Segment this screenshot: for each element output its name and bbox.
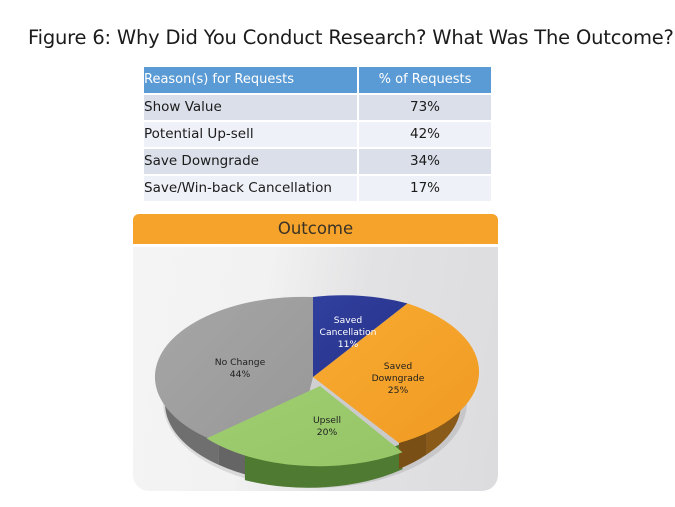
pie-label-line: Downgrade bbox=[372, 373, 425, 384]
pie-chart-svg: Saved Cancellation 11% Saved Downgrade 2… bbox=[133, 247, 498, 491]
pie-label-line: No Change bbox=[215, 357, 266, 368]
table-cell-reason: Save/Win-back Cancellation bbox=[144, 176, 358, 201]
pie-label-value: 25% bbox=[388, 385, 409, 396]
table-row: Save/Win-back Cancellation 17% bbox=[144, 176, 491, 201]
table-header-reason: Reason(s) for Requests bbox=[144, 67, 358, 93]
table-header-percent: % of Requests bbox=[358, 67, 491, 93]
table-cell-percent: 42% bbox=[358, 122, 491, 147]
table-cell-reason: Show Value bbox=[144, 95, 358, 120]
table-cell-percent: 17% bbox=[358, 176, 491, 201]
table-row: Save Downgrade 34% bbox=[144, 149, 491, 174]
pie-label-value: 44% bbox=[230, 369, 251, 380]
table-cell-reason: Save Downgrade bbox=[144, 149, 358, 174]
pie-label-line: Saved bbox=[334, 315, 362, 326]
table-cell-reason: Potential Up-sell bbox=[144, 122, 358, 147]
outcome-chart-panel: Outcome bbox=[133, 214, 498, 491]
chart-title-bar: Outcome bbox=[133, 214, 498, 244]
table-row: Potential Up-sell 42% bbox=[144, 122, 491, 147]
table-row: Show Value 73% bbox=[144, 95, 491, 120]
pie-label-line: Saved bbox=[384, 361, 412, 372]
pie-label-line: Upsell bbox=[313, 415, 341, 426]
table-cell-percent: 34% bbox=[358, 149, 491, 174]
pie-label-line: Cancellation bbox=[320, 327, 377, 338]
table-cell-percent: 73% bbox=[358, 95, 491, 120]
table-header-row: Reason(s) for Requests % of Requests bbox=[144, 67, 491, 93]
pie-chart-plot-area: Saved Cancellation 11% Saved Downgrade 2… bbox=[133, 247, 498, 491]
page-title: Figure 6: Why Did You Conduct Research? … bbox=[28, 26, 658, 49]
pie-label-value: 11% bbox=[338, 339, 359, 350]
reasons-table: Reason(s) for Requests % of Requests Sho… bbox=[144, 67, 491, 201]
pie-label-value: 20% bbox=[317, 427, 338, 438]
pie-label-upsell: Upsell 20% bbox=[313, 415, 341, 438]
